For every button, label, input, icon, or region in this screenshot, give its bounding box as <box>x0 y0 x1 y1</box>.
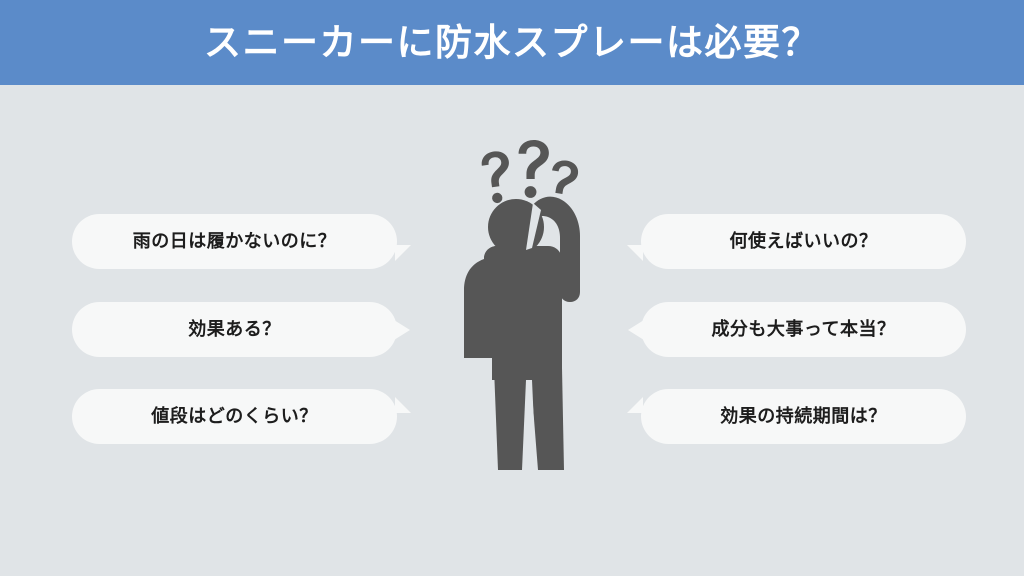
speech-bubble-right-1-label: 何使えばいいの？ <box>730 233 878 251</box>
speech-tail-right-top-icon <box>395 397 411 413</box>
speech-bubble-right-1[interactable]: 何使えばいいの？ <box>641 214 966 269</box>
question-marks-group <box>480 140 580 211</box>
speech-bubble-left-3[interactable]: 値段はどのくらい？ <box>72 389 397 444</box>
speech-bubble-right-2-label: 成分も大事って本当？ <box>711 321 895 339</box>
confused-person-illustration <box>440 130 610 470</box>
person-body-group <box>464 197 580 470</box>
speech-bubble-left-2[interactable]: 効果ある？ <box>72 302 397 357</box>
slide-canvas: スニーカーに防水スプレーは必要？ 雨の日は履かないのに？ 効果ある？ 値段はどの… <box>0 0 1024 576</box>
speech-tail-right-bottom-icon <box>395 245 411 261</box>
speech-bubble-left-1-label: 雨の日は履かないのに？ <box>133 233 337 251</box>
speech-tail-left-middle-icon <box>628 320 644 340</box>
speech-bubble-right-3[interactable]: 効果の持続期間は？ <box>641 389 966 444</box>
speech-tail-left-bottom-icon <box>627 245 643 261</box>
speech-bubble-left-3-label: 値段はどのくらい？ <box>151 408 318 426</box>
speech-tail-left-top-icon <box>627 397 643 413</box>
page-title: スニーカーに防水スプレーは必要？ <box>204 24 820 61</box>
speech-bubble-right-2[interactable]: 成分も大事って本当？ <box>641 302 966 357</box>
speech-tail-right-middle-icon <box>394 320 410 340</box>
speech-bubble-left-2-label: 効果ある？ <box>188 321 281 339</box>
speech-bubble-left-1[interactable]: 雨の日は履かないのに？ <box>72 214 397 269</box>
header-banner: スニーカーに防水スプレーは必要？ <box>0 0 1024 85</box>
speech-bubble-right-3-label: 効果の持続期間は？ <box>720 408 887 426</box>
